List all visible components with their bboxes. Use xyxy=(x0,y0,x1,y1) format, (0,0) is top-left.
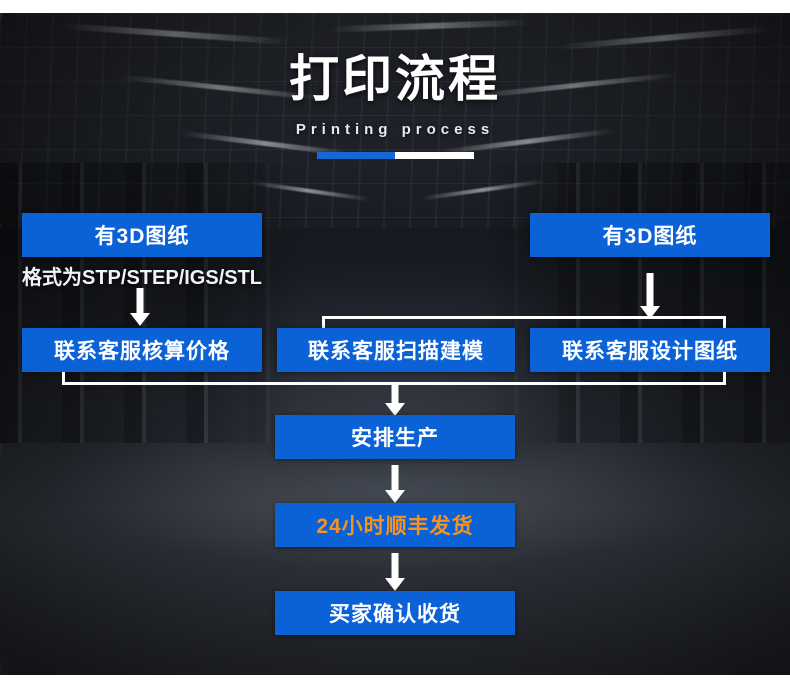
flow-box-24h-shipping[interactable]: 24小时顺丰发货 xyxy=(275,503,515,547)
flow-box-contact-service-scan-model[interactable]: 联系客服扫描建模 xyxy=(277,328,515,372)
flow-box-has-3d-drawing-right[interactable]: 有3D图纸 xyxy=(530,213,770,257)
bracket-right-stub xyxy=(723,316,726,328)
arrow-down-icon xyxy=(636,273,664,319)
flow-box-arrange-production[interactable]: 安排生产 xyxy=(275,415,515,459)
flow-box-contact-service-pricing[interactable]: 联系客服核算价格 xyxy=(22,328,262,372)
bracket-horizontal-line xyxy=(322,316,726,319)
flow-caption-format: 格式为STP/STEP/IGS/STL xyxy=(22,261,262,290)
flow-box-buyer-confirm-receipt[interactable]: 买家确认收货 xyxy=(275,591,515,635)
underline-blue-segment xyxy=(317,152,396,159)
arrow-down-icon xyxy=(126,288,154,326)
promo-banner: 打印流程 Printing process 有3D图纸 格式为STP/STEP/… xyxy=(0,0,790,696)
flow-box-has-3d-drawing-left[interactable]: 有3D图纸 xyxy=(22,213,262,257)
bracket-left-stub xyxy=(322,316,325,328)
underline-white-segment xyxy=(395,152,474,159)
page-title: 打印流程 xyxy=(0,52,790,107)
page-subtitle: Printing process xyxy=(0,121,790,138)
flow-box-contact-service-design-drawing[interactable]: 联系客服设计图纸 xyxy=(530,328,770,372)
arrow-down-icon xyxy=(381,382,409,416)
header-block: 打印流程 Printing process xyxy=(0,52,790,159)
merge-right-stub xyxy=(723,372,726,384)
arrow-down-icon xyxy=(381,553,409,591)
title-underline xyxy=(317,152,474,159)
arrow-down-icon xyxy=(381,465,409,503)
